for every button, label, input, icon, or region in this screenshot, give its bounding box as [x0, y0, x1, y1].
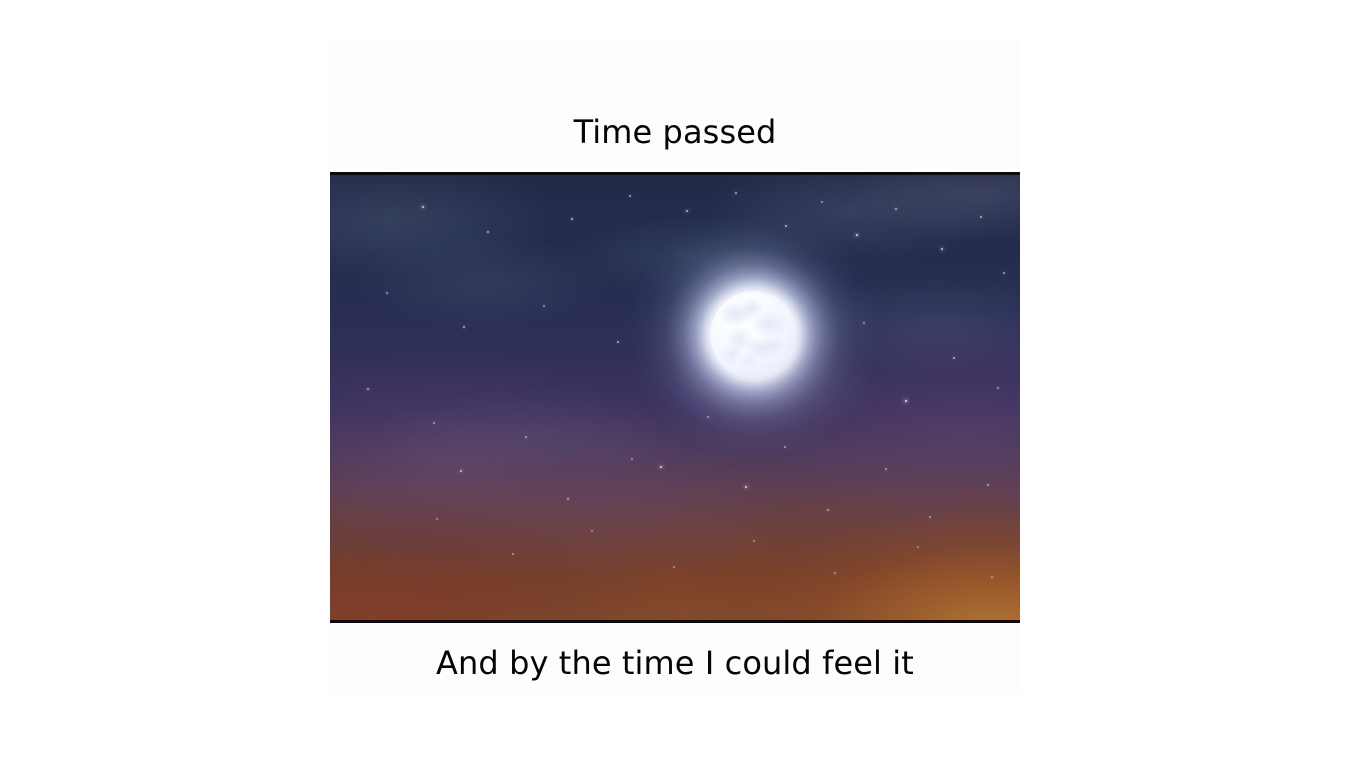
horizon-haze-layer — [330, 175, 1020, 620]
meme-panel: Time passed And by the time I could feel… — [0, 0, 1350, 765]
caption-top-backdrop — [330, 40, 1020, 173]
moon-craters — [710, 291, 797, 378]
night-sky-image — [330, 172, 1020, 623]
night-sky-canvas — [330, 175, 1020, 620]
caption-top: Time passed — [0, 112, 1350, 152]
moon-icon — [710, 291, 797, 378]
caption-bottom: And by the time I could feel it — [0, 643, 1350, 683]
